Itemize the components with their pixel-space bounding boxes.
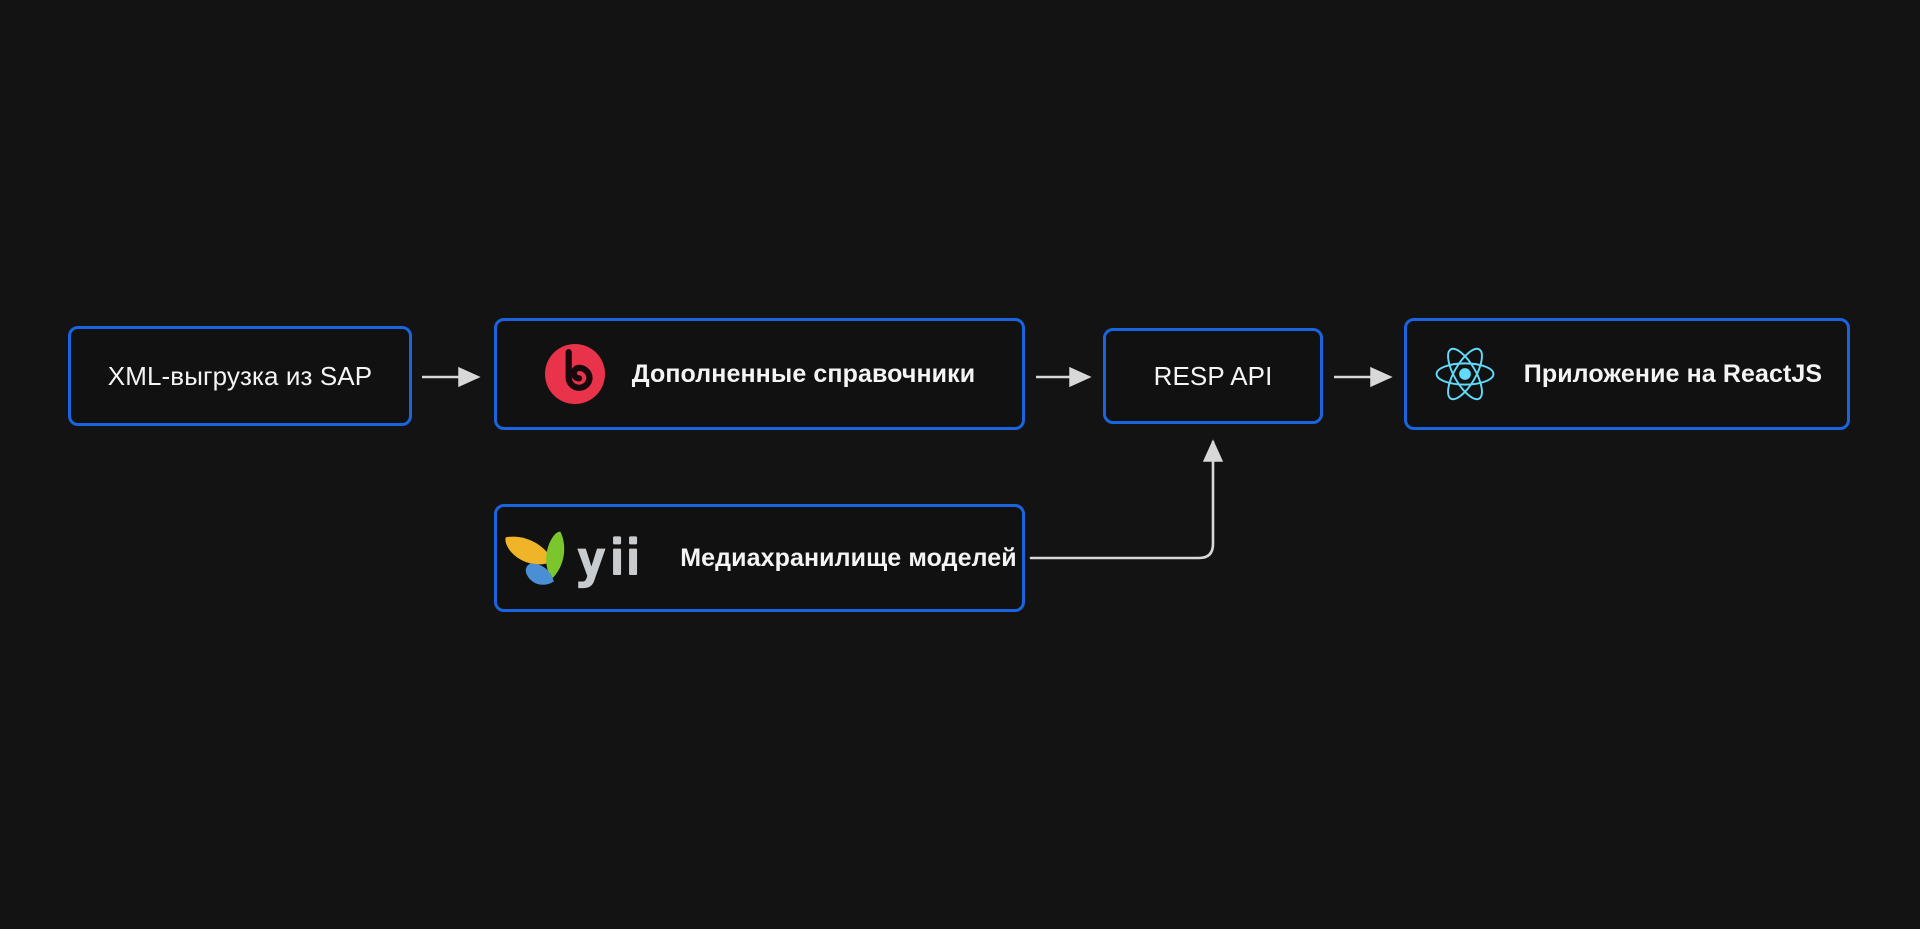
node-directories-label: Дополненные справочники bbox=[632, 360, 975, 389]
diagram-canvas: XML-выгрузка из SAP Дополненные справочн… bbox=[0, 0, 1920, 929]
react-logo-icon bbox=[1432, 344, 1498, 404]
node-xml-sap[interactable]: XML-выгрузка из SAP bbox=[68, 326, 412, 426]
node-media-storage-label: Медиахранилище моделей bbox=[680, 544, 1017, 573]
node-react-app-label: Приложение на ReactJS bbox=[1524, 360, 1822, 389]
node-directories[interactable]: Дополненные справочники bbox=[494, 318, 1025, 430]
edge-layer bbox=[0, 0, 1920, 929]
node-media-storage[interactable]: Медиахранилище моделей bbox=[494, 504, 1025, 612]
edge-media-to-api bbox=[1031, 442, 1213, 558]
node-resp-api-label: RESP API bbox=[1154, 361, 1273, 392]
bitrix24-logo-icon bbox=[544, 343, 606, 405]
node-react-app[interactable]: Приложение на ReactJS bbox=[1404, 318, 1850, 430]
node-resp-api[interactable]: RESP API bbox=[1103, 328, 1323, 424]
yii-logo-icon bbox=[502, 526, 662, 590]
node-xml-sap-label: XML-выгрузка из SAP bbox=[108, 361, 372, 392]
